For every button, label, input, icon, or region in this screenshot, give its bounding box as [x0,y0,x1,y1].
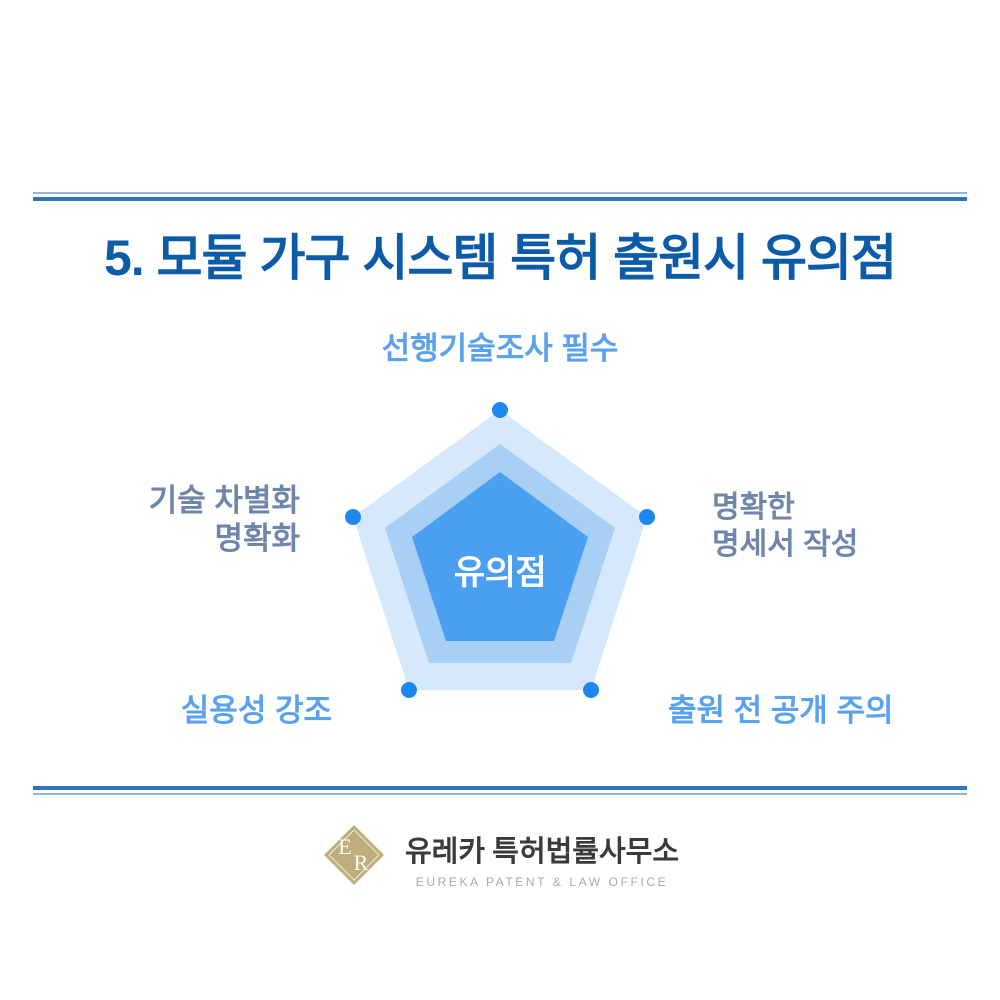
firm-name-korean: 유레카 특허법률사무소 [405,828,679,870]
vertex-dot-bottom-left [401,682,417,698]
vertex-dot-left [345,509,361,525]
divider-bottom-thin-line [33,793,967,795]
divider-top [33,192,967,201]
node-label-bottom-left: 실용성 강조 [70,692,332,730]
firm-name-english: EUREKA PATENT & LAW OFFICE [416,875,669,889]
logo-letter-r: R [354,850,369,875]
node-label-right: 명확한 명세서 작성 [712,490,982,563]
footer-logo: E R 유레카 특허법률사무소 EUREKA PATENT & LAW OFFI… [0,822,1000,893]
eureka-diamond-logo-icon: E R [321,822,387,893]
vertex-dot-bottom-right [583,682,599,698]
node-label-top: 선행기술조사 필수 [0,330,1000,368]
vertex-dot-right [639,509,655,525]
logo-text-block: 유레카 특허법률사무소 EUREKA PATENT & LAW OFFICE [405,826,679,889]
page-title: 5. 모듈 가구 시스템 특허 출원시 유의점 [0,218,1000,290]
node-label-left: 기술 차별화 명확화 [40,482,300,558]
vertex-dot-top [492,402,508,418]
divider-top-thick-line [33,197,967,201]
node-label-bottom-right: 출원 전 공개 주의 [668,692,958,730]
logo-letter-e: E [338,834,351,859]
divider-bottom [33,786,967,795]
